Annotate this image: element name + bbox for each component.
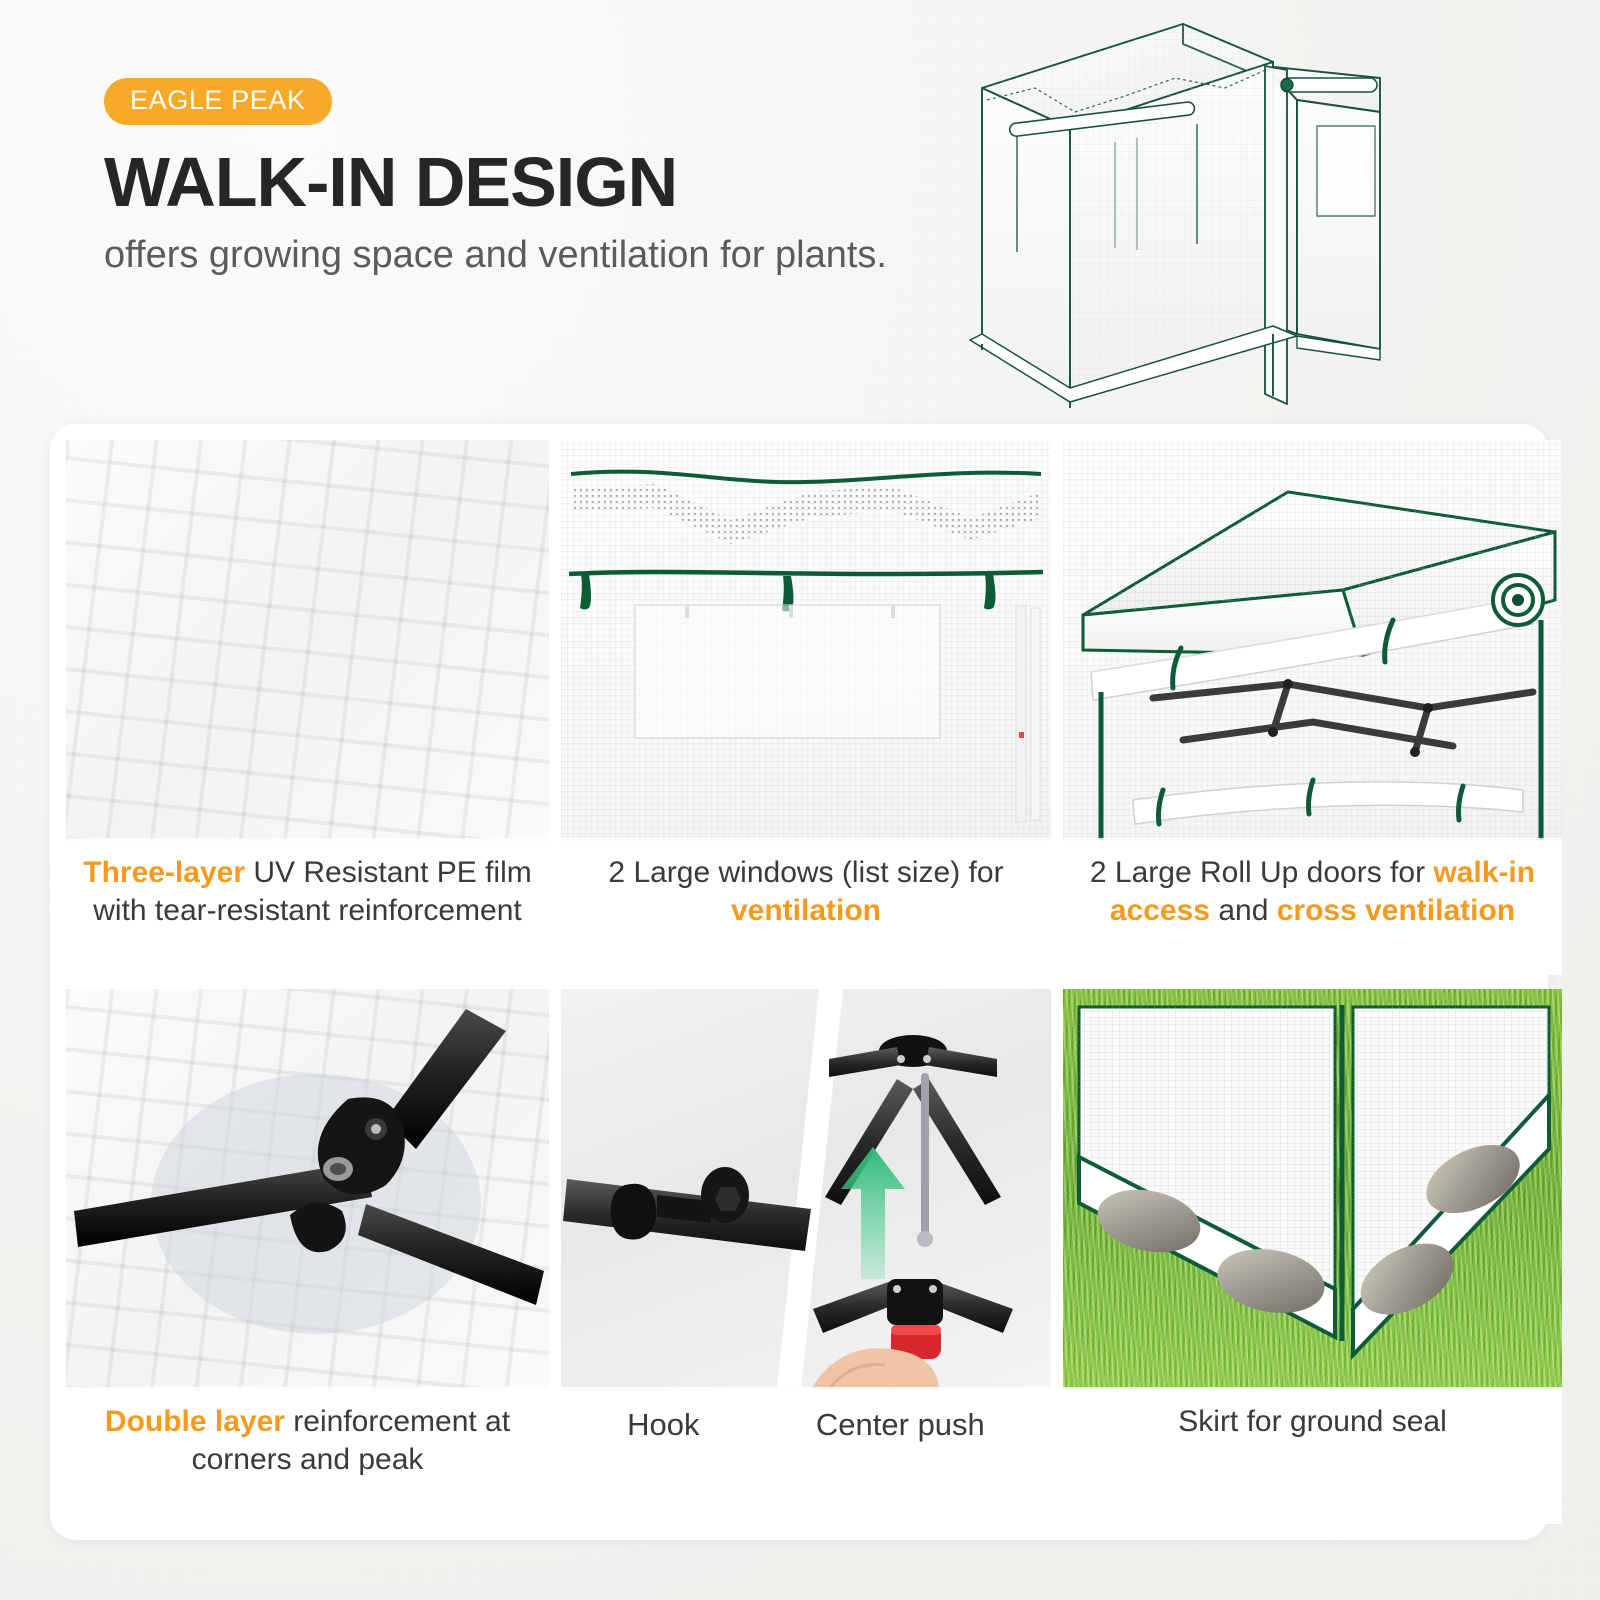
panel-roll-up-doors: 2 Large Roll Up doors for walk-in access… bbox=[1063, 440, 1562, 975]
caption-text-2: and bbox=[1210, 894, 1277, 927]
panel-ground-skirt: Skirt for ground seal bbox=[1063, 989, 1562, 1524]
hero-greenhouse-image bbox=[925, 4, 1385, 424]
panel-double-layer-corners: Double layer reinforcement at corners an… bbox=[66, 989, 549, 1524]
caption-highlight: ventilation bbox=[731, 894, 881, 927]
caption-highlight: Three-layer bbox=[83, 856, 245, 889]
caption-three-layer-film: Three-layer UV Resistant PE film with te… bbox=[66, 838, 549, 975]
panel-hook-center-push: Hook Center push bbox=[561, 989, 1051, 1524]
caption-text: 2 Large windows (list size) for bbox=[608, 856, 1003, 889]
image-hook-and-hub bbox=[561, 989, 1051, 1389]
image-skirt-with-stones bbox=[1063, 989, 1562, 1389]
caption-center-push: Center push bbox=[816, 1405, 985, 1445]
caption-large-windows: 2 Large windows (list size) for ventilat… bbox=[561, 838, 1051, 975]
panel-large-windows: 2 Large windows (list size) for ventilat… bbox=[561, 440, 1051, 975]
caption-highlight-2: cross ventilation bbox=[1277, 894, 1515, 927]
page-subtitle: offers growing space and ventilation for… bbox=[104, 232, 924, 278]
brand-badge: EAGLE PEAK bbox=[104, 78, 332, 125]
features-card: Three-layer UV Resistant PE film with te… bbox=[50, 424, 1548, 1540]
features-grid: Three-layer UV Resistant PE film with te… bbox=[66, 440, 1532, 1524]
image-mesh-film bbox=[66, 440, 549, 840]
caption-ground-skirt: Skirt for ground seal bbox=[1063, 1387, 1562, 1524]
page-title: WALK-IN DESIGN bbox=[104, 147, 924, 218]
image-roof-rolled-door bbox=[1063, 440, 1562, 840]
image-side-wall-window bbox=[561, 440, 1051, 840]
header-block: EAGLE PEAK WALK-IN DESIGN offers growing… bbox=[104, 78, 924, 279]
caption-hook-center-push: Hook Center push bbox=[561, 1387, 1051, 1524]
caption-text: Skirt for ground seal bbox=[1178, 1405, 1446, 1438]
caption-roll-up-doors: 2 Large Roll Up doors for walk-in access… bbox=[1063, 838, 1562, 975]
infographic-stage: EAGLE PEAK WALK-IN DESIGN offers growing… bbox=[0, 0, 1600, 1600]
caption-text: 2 Large Roll Up doors for bbox=[1090, 856, 1434, 889]
caption-hook: Hook bbox=[627, 1405, 699, 1445]
image-corner-joint bbox=[66, 989, 549, 1389]
panel-three-layer-film: Three-layer UV Resistant PE film with te… bbox=[66, 440, 549, 975]
caption-highlight: Double layer bbox=[105, 1405, 285, 1438]
caption-double-layer: Double layer reinforcement at corners an… bbox=[66, 1387, 549, 1524]
